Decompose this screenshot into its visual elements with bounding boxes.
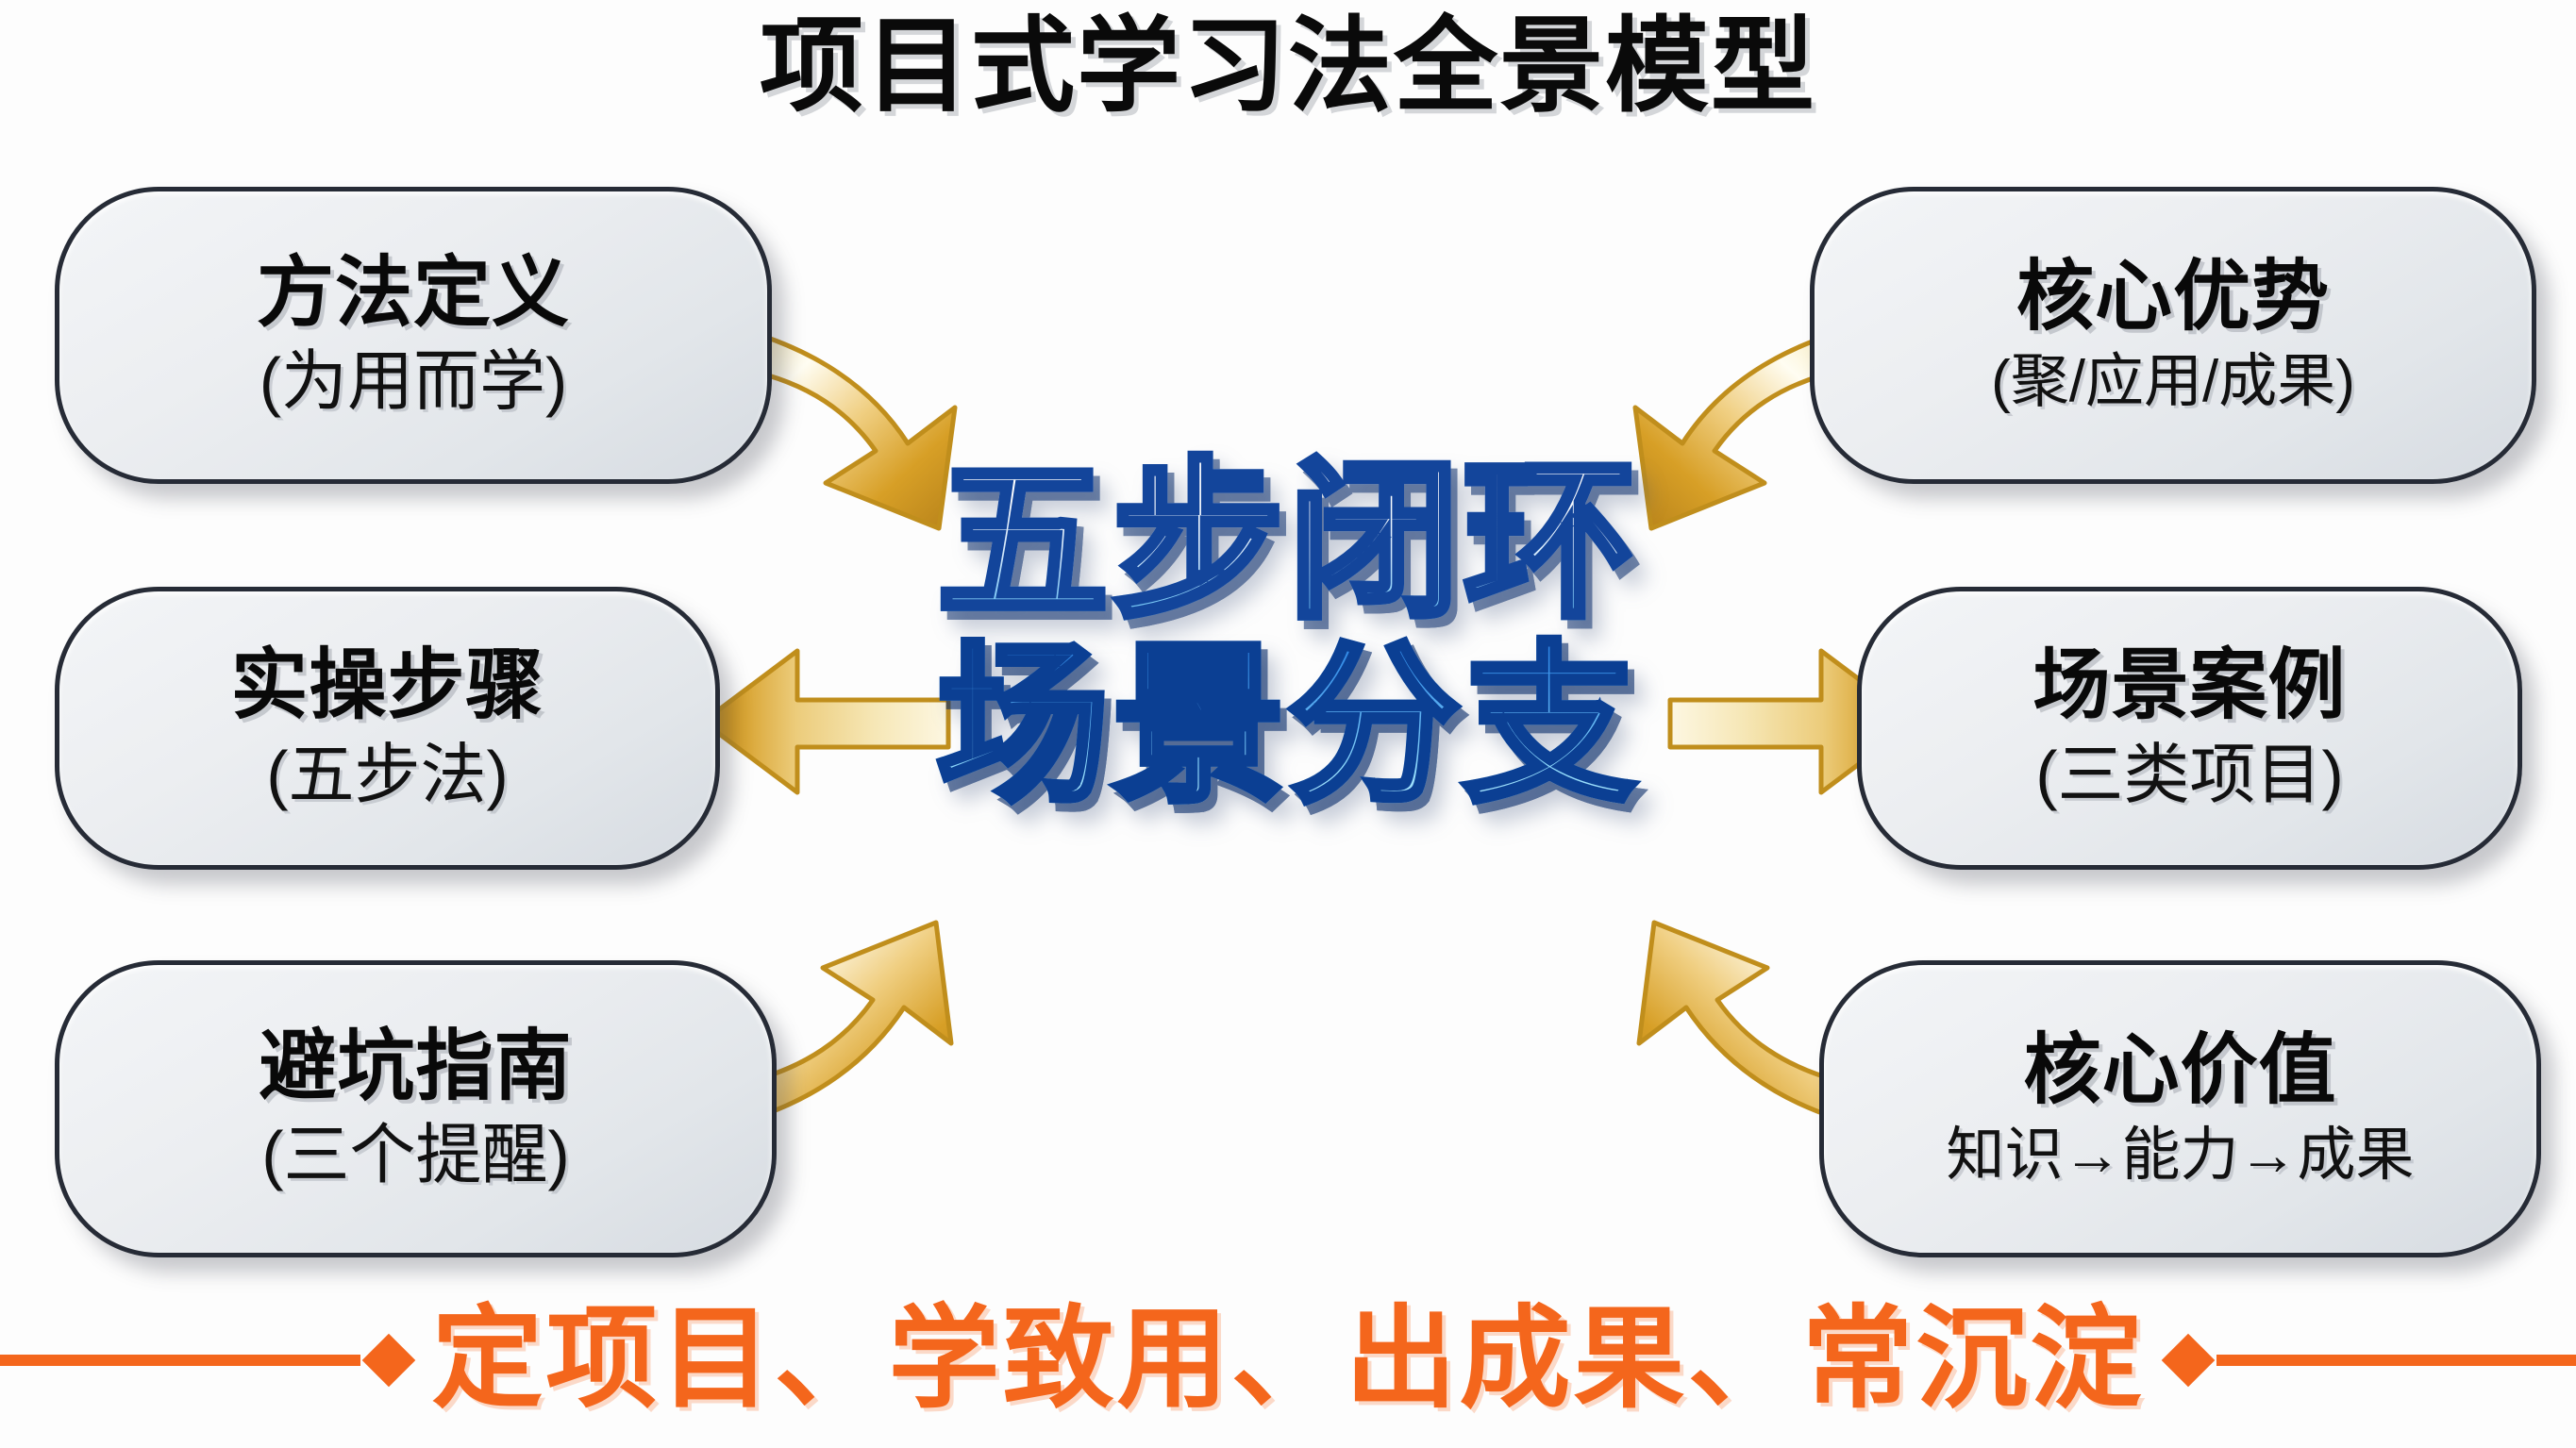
card-core-value[interactable]: 核心价值 知识→能力→成果 bbox=[1819, 960, 2541, 1257]
card-method-definition[interactable]: 方法定义 (为用而学) bbox=[55, 187, 772, 484]
card-scenario-cases-heading: 场景案例 bbox=[2032, 645, 2346, 727]
arrow-value-to-center bbox=[1639, 923, 1847, 1118]
page-title: 项目式学习法全景模型 bbox=[0, 8, 2576, 127]
card-method-definition-subtitle: (为用而学) bbox=[259, 345, 568, 418]
card-practical-steps-subtitle: (五步法) bbox=[266, 739, 509, 811]
card-pitfall-guide-heading: 避坑指南 bbox=[259, 1026, 572, 1108]
card-core-advantage-subtitle: (聚/应用/成果) bbox=[1991, 350, 2355, 414]
card-pitfall-guide[interactable]: 避坑指南 (三个提醒) bbox=[55, 960, 777, 1257]
slogan-left-rule bbox=[0, 1355, 360, 1366]
card-practical-steps-heading: 实操步骤 bbox=[230, 645, 544, 727]
diamond-icon-left bbox=[361, 1334, 415, 1388]
card-pitfall-guide-subtitle: (三个提醒) bbox=[261, 1119, 570, 1191]
slogan-text: 定项目、学致用、出成果、常沉淀 bbox=[417, 1299, 2160, 1422]
card-core-advantage-heading: 核心优势 bbox=[2016, 257, 2330, 339]
arrow-method-to-center bbox=[745, 335, 955, 528]
card-core-value-heading: 核心价值 bbox=[2023, 1030, 2336, 1112]
slogan-right-rule bbox=[2216, 1355, 2576, 1366]
diagram-canvas: 项目式学习法全景模型 bbox=[0, 0, 2576, 1448]
slogan-left-marker bbox=[0, 1341, 417, 1379]
card-method-definition-heading: 方法定义 bbox=[257, 253, 570, 335]
hero-line-1: 五步闭环 bbox=[816, 453, 1760, 631]
center-hero: 五步闭环 场景分支 bbox=[816, 453, 1760, 816]
slogan-right-marker bbox=[2160, 1341, 2576, 1379]
card-scenario-cases[interactable]: 场景案例 (三类项目) bbox=[1857, 587, 2522, 870]
card-scenario-cases-subtitle: (三类项目) bbox=[2035, 739, 2344, 811]
card-core-advantage[interactable]: 核心优势 (聚/应用/成果) bbox=[1810, 187, 2536, 484]
card-core-value-subtitle: 知识→能力→成果 bbox=[1946, 1123, 2414, 1188]
slogan-strip: 定项目、学致用、出成果、常沉淀 bbox=[0, 1290, 2576, 1431]
hero-line-2: 场景分支 bbox=[816, 637, 1760, 815]
diamond-icon-right bbox=[2161, 1334, 2215, 1388]
card-practical-steps[interactable]: 实操步骤 (五步法) bbox=[55, 587, 720, 870]
arrow-center-to-steps bbox=[703, 651, 948, 792]
